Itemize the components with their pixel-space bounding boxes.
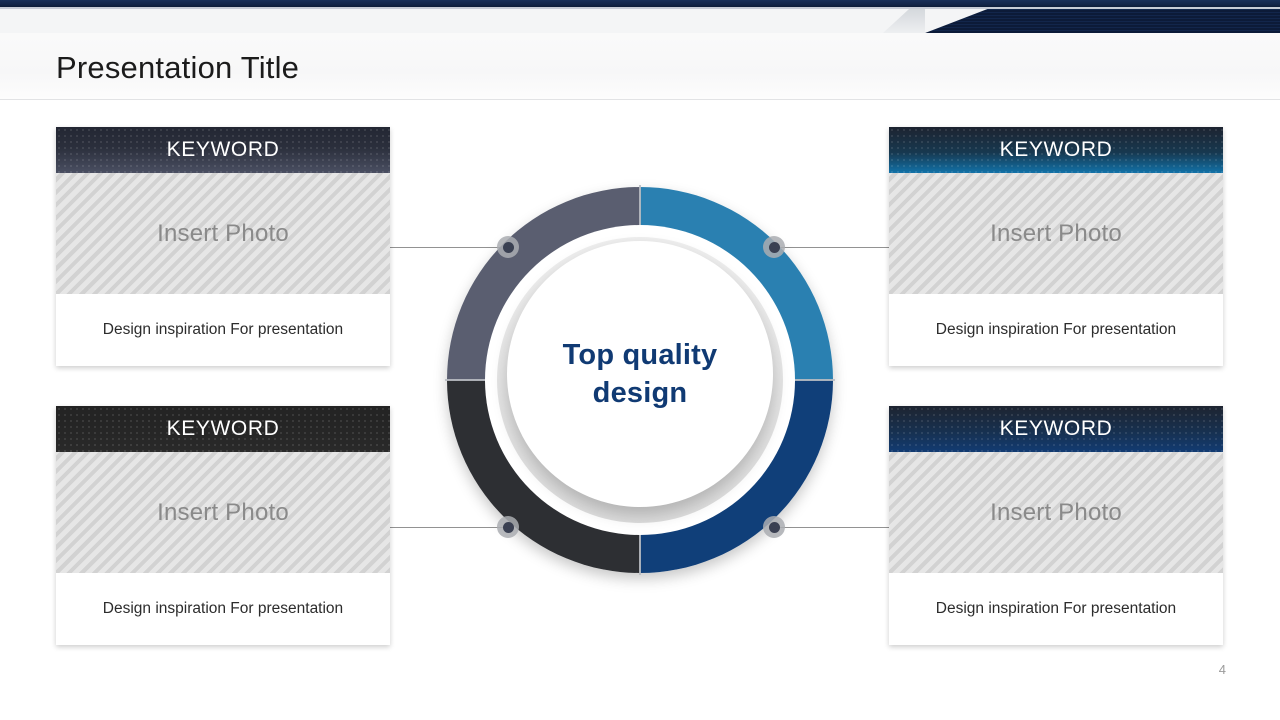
photo-placeholder-label: Insert Photo (990, 499, 1122, 527)
photo-placeholder-label: Insert Photo (157, 220, 289, 248)
photo-placeholder-label: Insert Photo (157, 499, 289, 527)
card-caption-text: Design inspiration For presentation (918, 597, 1194, 620)
card-top-right[interactable]: KEYWORD Insert Photo Design inspiration … (889, 127, 1223, 366)
card-caption-top-right: Design inspiration For presentation (889, 294, 1223, 366)
top-accent-strip (0, 0, 1280, 7)
card-keyword-label: KEYWORD (1000, 417, 1113, 440)
connector-node-bottom-left[interactable] (497, 516, 519, 538)
photo-placeholder-bottom-right[interactable]: Insert Photo (889, 452, 1223, 573)
page-title: Presentation Title (56, 50, 299, 86)
card-keyword-label: KEYWORD (1000, 138, 1113, 161)
card-top-left[interactable]: KEYWORD Insert Photo Design inspiration … (56, 127, 390, 366)
card-caption-bottom-right: Design inspiration For presentation (889, 573, 1223, 645)
card-caption-text: Design inspiration For presentation (85, 318, 361, 341)
card-caption-bottom-left: Design inspiration For presentation (56, 573, 390, 645)
card-bottom-right[interactable]: KEYWORD Insert Photo Design inspiration … (889, 406, 1223, 645)
card-bottom-left[interactable]: KEYWORD Insert Photo Design inspiration … (56, 406, 390, 645)
card-header-bottom-left: KEYWORD (56, 406, 390, 452)
donut-center-disc: Top qualitydesign (507, 241, 773, 507)
page-number: 4 (1219, 662, 1226, 677)
card-keyword-label: KEYWORD (167, 138, 280, 161)
title-divider (0, 99, 1280, 100)
card-header-top-left: KEYWORD (56, 127, 390, 173)
connector-node-top-left[interactable] (497, 236, 519, 258)
connector-node-top-right[interactable] (763, 236, 785, 258)
photo-placeholder-label: Insert Photo (990, 220, 1122, 248)
photo-placeholder-top-left[interactable]: Insert Photo (56, 173, 390, 294)
card-header-bottom-right: KEYWORD (889, 406, 1223, 452)
card-caption-text: Design inspiration For presentation (918, 318, 1194, 341)
photo-placeholder-bottom-left[interactable]: Insert Photo (56, 452, 390, 573)
photo-placeholder-top-right[interactable]: Insert Photo (889, 173, 1223, 294)
donut-center-text: Top qualitydesign (563, 336, 718, 413)
card-keyword-label: KEYWORD (167, 417, 280, 440)
connector-node-bottom-right[interactable] (763, 516, 785, 538)
card-caption-top-left: Design inspiration For presentation (56, 294, 390, 366)
card-caption-text: Design inspiration For presentation (85, 597, 361, 620)
card-header-top-right: KEYWORD (889, 127, 1223, 173)
